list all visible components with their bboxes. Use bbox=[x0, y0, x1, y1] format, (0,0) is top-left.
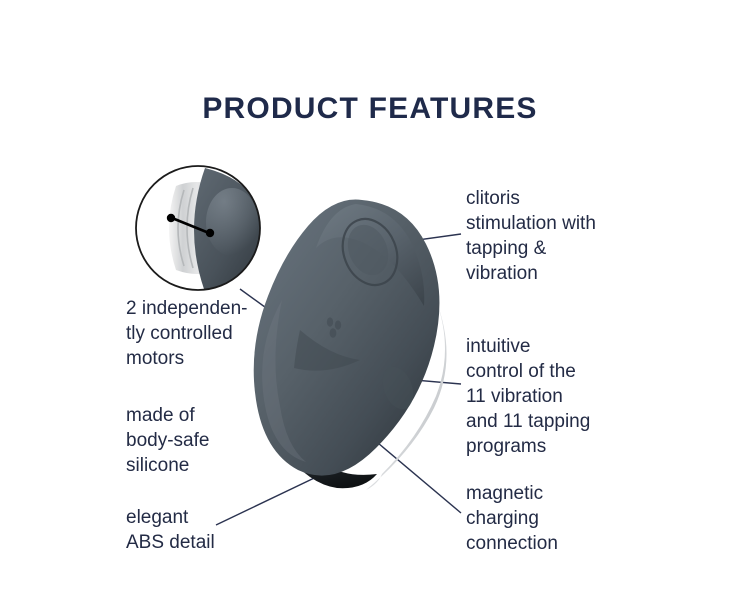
feature-label-silicone: made of body-safe silicone bbox=[126, 403, 276, 478]
feature-label-abs-detail: elegant ABS detail bbox=[126, 505, 276, 555]
feature-label-clitoris: clitoris stimulation with tapping & vibr… bbox=[466, 186, 634, 286]
leader-line-magnetic bbox=[378, 443, 461, 513]
feature-label-motors: 2 independen- tly controlled motors bbox=[126, 296, 286, 371]
feature-label-intuitive-control: intuitive control of the 11 vibration an… bbox=[466, 334, 634, 459]
product-features-infographic: PRODUCT FEATURES bbox=[0, 0, 740, 600]
motor-detail-magnifier bbox=[136, 166, 263, 292]
feature-label-magnetic-charging: magnetic charging connection bbox=[466, 481, 634, 556]
